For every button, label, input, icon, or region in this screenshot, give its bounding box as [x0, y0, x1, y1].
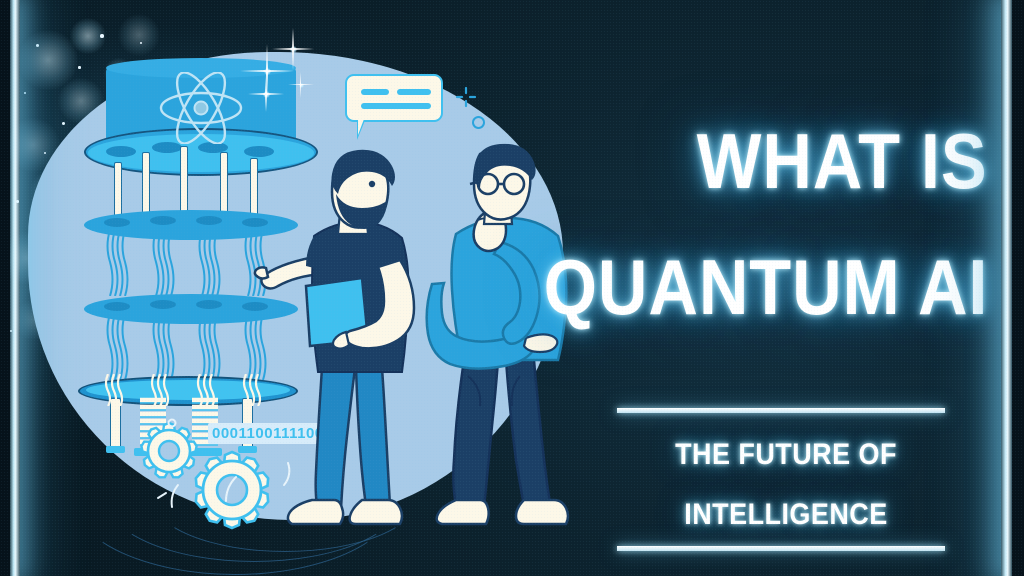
headline-line-2: QUANTUM AI [543, 248, 988, 326]
speech-bubble-tail-inner [358, 119, 364, 135]
left-border-dark [0, 0, 10, 576]
headline-column: WHAT IS QUANTUM AI THE FUTURE OF INTELLI… [560, 0, 1012, 576]
decorative-ring [472, 116, 485, 129]
headline-line-1: WHAT IS [697, 122, 988, 200]
divider-rule-bottom [617, 546, 945, 551]
right-border-dark [1012, 0, 1024, 576]
left-glow-strip [10, 0, 20, 576]
divider-rule-top [617, 408, 945, 413]
atom-icon [158, 72, 244, 144]
sparkle-star-icon [272, 28, 314, 70]
decorative-plus-icon [455, 86, 477, 108]
subtitle-line-1: THE FUTURE OF [583, 440, 990, 470]
speech-bubble-icon [345, 74, 443, 122]
sparkle-star-icon [248, 76, 284, 112]
poster-canvas: 00011001111000 [0, 0, 1024, 576]
subtitle-line-2: INTELLIGENCE [583, 500, 990, 530]
right-glow-strip [1001, 0, 1012, 576]
sparkle-star-icon [288, 72, 314, 98]
